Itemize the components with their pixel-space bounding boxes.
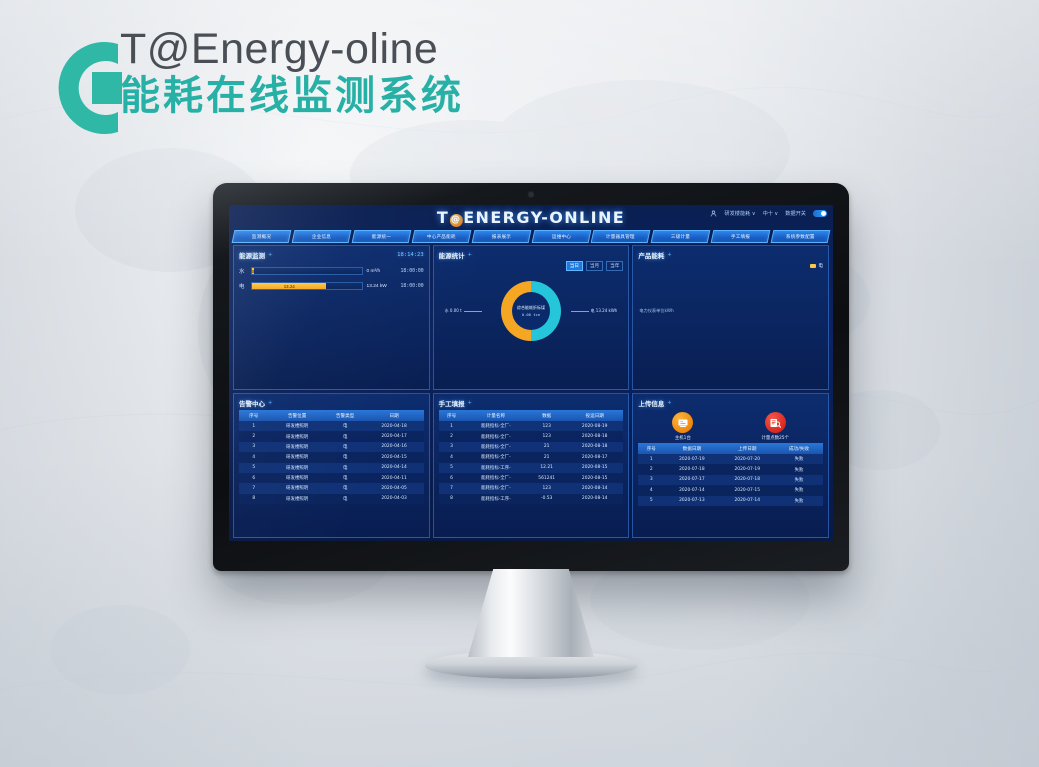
app-topbar: T@ENERGY-ONLINE 研发楼能耗 ∨ 中十 ∨ 数据开关 <box>229 205 833 229</box>
table-cell: 3 <box>439 442 465 452</box>
table-cell: 2020-07-20 <box>720 454 775 464</box>
energy-row-water-barvalue: 0 <box>252 269 254 274</box>
table-cell: 4 <box>638 485 664 495</box>
table-cell: 研发楼照明 <box>269 463 326 473</box>
table-cell: 研发楼照明 <box>269 452 326 462</box>
energy-row-electric: 电 13.24 13.24 kW 18:00:00 <box>239 282 424 290</box>
col-index: 序号 <box>239 410 269 421</box>
monitor-bezel: T@ENERGY-ONLINE 研发楼能耗 ∨ 中十 ∨ 数据开关 监测概况 企… <box>213 183 849 571</box>
donut-center-value: 0.00 tce <box>522 312 540 317</box>
table-cell: 研发楼照明 <box>269 473 326 483</box>
table-cell: 能耗指标-全厂- <box>465 442 528 452</box>
col-location: 告警位置 <box>269 410 326 421</box>
panel-alarm-center: 告警中心 + 序号 告警位置 告警类型 日期 1研发楼照明电2020-04-18… <box>233 393 430 538</box>
app-logo-prefix: T <box>437 208 449 227</box>
table-cell: 123 <box>527 483 566 493</box>
dashboard-grid: 能源监测 + 18:14:23 水 0 0 m³/h 18:00:00 <box>233 245 829 538</box>
table-cell: 21 <box>527 452 566 462</box>
table-cell: 2020-07-14 <box>664 485 719 495</box>
panel-product-energy-title: 产品能耗 <box>638 250 664 260</box>
manual-entry-body: 1能耗指标-全厂-1232020-08-192能耗指标-全厂-1232020-0… <box>439 421 624 504</box>
nav-label-0: 监测概况 <box>252 234 271 240</box>
data-toggle-label: 数据开关 <box>785 210 806 217</box>
table-cell: 电 <box>326 473 365 483</box>
table-cell: 1 <box>638 454 664 464</box>
table-cell: 8 <box>439 494 465 504</box>
upload-stat-host-caption: 主机1台 <box>672 435 693 441</box>
legend-label-electric: 电 <box>818 263 823 269</box>
table-cell: 2020-04-03 <box>365 494 424 504</box>
table-cell: -0.53 <box>527 494 566 504</box>
table-cell: 7 <box>439 483 465 493</box>
panel-energy-statistics-header: 能源统计 + <box>439 249 624 260</box>
table-cell: 3 <box>239 442 269 452</box>
expand-icon[interactable]: + <box>468 400 472 406</box>
table-cell: 6 <box>439 473 465 483</box>
alarm-center-body: 1研发楼照明电2020-04-182研发楼照明电2020-04-173研发楼照明… <box>239 421 424 504</box>
user-account-name[interactable]: 研发楼能耗 ∨ <box>724 210 755 217</box>
c-logo-icon <box>52 28 124 148</box>
panel-energy-monitor-header: 能源监测 + 18:14:23 <box>239 249 424 260</box>
app-logo: T@ENERGY-ONLINE <box>437 208 625 227</box>
product-energy-legend: 电 <box>638 263 823 269</box>
nav-item-4[interactable]: 报表展示 <box>471 230 531 243</box>
donut-label-electric: 电 13.24 kWh <box>571 308 618 314</box>
expand-icon[interactable]: + <box>268 252 272 258</box>
table-cell: 2020-07-18 <box>664 464 719 474</box>
expand-icon[interactable]: + <box>667 400 671 406</box>
table-row[interactable]: 22020-07-182020-07-19失败 <box>638 464 823 474</box>
panel-upload-info: 上传信息 + 主机1台 <box>632 393 829 538</box>
tab-month[interactable]: 当月 <box>586 261 603 271</box>
upload-stats: 主机1台 计量点数25个 <box>638 412 823 441</box>
table-cell: 电 <box>326 442 365 452</box>
panel-upload-info-title: 上传信息 <box>638 398 664 408</box>
panel-manual-entry: 手工填报 + 序号 计量名称 数据 投运日期 1能耗指标-全厂-1232020-… <box>433 393 630 538</box>
energy-row-electric-reading: 13.24 kW <box>367 284 397 289</box>
table-cell: 2020-07-15 <box>720 485 775 495</box>
nav-item-9[interactable]: 系统参数配置 <box>771 230 831 243</box>
energy-row-water-bar: 0 <box>251 267 363 275</box>
monitor-mockup: T@ENERGY-ONLINE 研发楼能耗 ∨ 中十 ∨ 数据开关 监测概况 企… <box>213 183 849 679</box>
table-cell: 2020-08-19 <box>566 421 623 431</box>
panel-energy-monitor-title: 能源监测 <box>239 250 265 260</box>
table-row[interactable]: 6能耗指标-全厂-5612412020-08-15 <box>439 473 624 483</box>
table-cell: 8 <box>239 494 269 504</box>
table-cell: 研发楼照明 <box>269 421 326 431</box>
donut-center: 综合能耗折标煤 0.00 tce <box>512 292 550 330</box>
table-row[interactable]: 7研发楼照明电2020-04-05 <box>239 483 424 493</box>
upload-stat-host: 主机1台 <box>672 412 693 441</box>
table-cell: 2 <box>638 464 664 474</box>
alarm-center-table: 序号 告警位置 告警类型 日期 1研发楼照明电2020-04-182研发楼照明电… <box>239 410 424 504</box>
table-cell: 2020-08-15 <box>566 463 623 473</box>
table-cell: 电 <box>326 463 365 473</box>
nav-item-0[interactable]: 监测概况 <box>232 230 292 243</box>
table-cell: 2020-07-13 <box>664 496 719 506</box>
user-icon <box>710 210 717 217</box>
col-meter-name: 计量名称 <box>465 410 528 421</box>
table-cell: 2020-07-18 <box>720 475 775 485</box>
table-cell: 能耗指标-全厂- <box>465 421 528 431</box>
table-cell: 5 <box>439 463 465 473</box>
nav-label-4: 报表展示 <box>491 234 510 240</box>
energy-row-water-fill: 0 <box>252 268 254 274</box>
table-cell: 电 <box>326 452 365 462</box>
panel-upload-info-header: 上传信息 + <box>638 397 823 408</box>
table-cell: 电 <box>326 494 365 504</box>
nav-label-5: 运维中心 <box>551 234 570 240</box>
app-logo-suffix: ENERGY-ONLINE <box>463 208 625 227</box>
col-date: 投运日期 <box>566 410 623 421</box>
table-cell: 123 <box>527 431 566 441</box>
panel-manual-entry-title: 手工填报 <box>439 398 465 408</box>
upload-info-body: 12020-07-192020-07-20失败22020-07-182020-0… <box>638 454 823 506</box>
table-cell: 2020-04-16 <box>365 442 424 452</box>
table-row[interactable]: 5研发楼照明电2020-04-14 <box>239 463 424 473</box>
energy-row-water-time: 18:00:00 <box>401 269 424 274</box>
brand-title-cn: 能耗在线监测系统 <box>120 73 464 119</box>
table-cell: 5 <box>638 496 664 506</box>
upload-stat-meters: 计量点数25个 <box>761 412 789 441</box>
table-row[interactable]: 1能耗指标-全厂-1232020-08-19 <box>439 421 624 431</box>
energy-row-water: 水 0 0 m³/h 18:00:00 <box>239 267 424 275</box>
table-cell: 561241 <box>527 473 566 483</box>
tab-year[interactable]: 当年 <box>606 261 623 271</box>
table-row[interactable]: 4研发楼照明电2020-04-15 <box>239 452 424 462</box>
table-header-row: 序号 数据日期 上传日期 成功/失败 <box>638 443 823 454</box>
nav-label-1: 企业信息 <box>312 234 331 240</box>
nav-label-6: 计量器具管理 <box>607 234 636 240</box>
nav-label-3: 中心产品能耗 <box>427 234 456 240</box>
table-cell: 能耗指标-全厂- <box>465 483 528 493</box>
col-index: 序号 <box>638 443 664 454</box>
table-cell: 2020-08-18 <box>566 442 623 452</box>
col-data-date: 数据日期 <box>664 443 719 454</box>
table-cell: 12.21 <box>527 463 566 473</box>
col-status: 成功/失败 <box>775 443 823 454</box>
table-cell: 21 <box>527 442 566 452</box>
panel-alarm-center-title: 告警中心 <box>239 398 265 408</box>
table-cell: 研发楼照明 <box>269 442 326 452</box>
col-type: 告警类型 <box>326 410 365 421</box>
energy-row-water-reading: 0 m³/h <box>367 269 397 274</box>
manual-entry-table: 序号 计量名称 数据 投运日期 1能耗指标-全厂-1232020-08-192能… <box>439 410 624 504</box>
table-cell: 4 <box>439 452 465 462</box>
table-cell: 2020-07-17 <box>664 475 719 485</box>
upload-info-table: 序号 数据日期 上传日期 成功/失败 12020-07-192020-07-20… <box>638 443 823 506</box>
nav-label-9: 系统参数配置 <box>786 234 815 240</box>
nav-item-3[interactable]: 中心产品能耗 <box>411 230 471 243</box>
nav-label-7: 三级计量 <box>671 234 690 240</box>
monitor-neck <box>468 569 594 657</box>
table-cell: 研发楼照明 <box>269 431 326 441</box>
table-cell: 5 <box>239 463 269 473</box>
tab-today[interactable]: 当日 <box>566 261 583 271</box>
table-cell: 失败 <box>775 454 823 464</box>
nav-item-5[interactable]: 运维中心 <box>531 230 591 243</box>
table-row[interactable]: 52020-07-132020-07-14失败 <box>638 496 823 506</box>
meter-search-icon <box>765 412 786 433</box>
table-cell: 6 <box>239 473 269 483</box>
nav-item-2[interactable]: 能源统一 <box>351 230 411 243</box>
table-row[interactable]: 3能耗指标-全厂-212020-08-18 <box>439 442 624 452</box>
table-cell: 4 <box>239 452 269 462</box>
energy-donut-chart: 水 0.00 t 电 13.24 kWh 综合能耗折标煤 0.00 tce <box>439 273 624 349</box>
table-cell: 能耗指标-全厂- <box>465 473 528 483</box>
table-cell: 失败 <box>775 464 823 474</box>
energy-row-water-label: 水 <box>239 267 247 275</box>
table-row[interactable]: 1研发楼照明电2020-04-18 <box>239 421 424 431</box>
nav-label-8: 手工填报 <box>731 234 750 240</box>
donut-center-label: 综合能耗折标煤 <box>517 305 545 311</box>
table-row[interactable]: 3研发楼照明电2020-04-16 <box>239 442 424 452</box>
panel-energy-monitor: 能源监测 + 18:14:23 水 0 0 m³/h 18:00:00 <box>233 245 430 390</box>
nav-item-6[interactable]: 计量器具管理 <box>591 230 651 243</box>
energy-row-electric-fill: 13.24 <box>252 283 326 289</box>
main-nav: 监测概况 企业信息 能源统一 中心产品能耗 报表展示 运维中心 计量器具管理 三… <box>233 230 829 243</box>
table-cell: 3 <box>638 475 664 485</box>
table-cell: 2020-08-14 <box>566 494 623 504</box>
table-cell: 2020-04-11 <box>365 473 424 483</box>
webcam-icon <box>529 192 534 197</box>
table-cell: 1 <box>439 421 465 431</box>
table-row[interactable]: 2研发楼照明电2020-04-17 <box>239 431 424 441</box>
table-cell: 能耗指标-工序- <box>465 494 528 504</box>
energy-row-electric-label: 电 <box>239 282 247 290</box>
table-cell: 2020-08-18 <box>566 431 623 441</box>
table-cell: 1 <box>239 421 269 431</box>
product-energy-note: 电力仪表单位kWh <box>639 308 673 314</box>
table-cell: 能耗指标-全厂- <box>465 431 528 441</box>
panel-product-energy-header: 产品能耗 + <box>638 249 823 260</box>
table-cell: 2020-04-17 <box>365 431 424 441</box>
table-cell: 2020-04-05 <box>365 483 424 493</box>
table-cell: 123 <box>527 421 566 431</box>
table-header-row: 序号 告警位置 告警类型 日期 <box>239 410 424 421</box>
table-cell: 研发楼照明 <box>269 483 326 493</box>
panel-product-energy: 产品能耗 + 电 电力仪表单位kWh <box>632 245 829 390</box>
table-row[interactable]: 42020-07-142020-07-15失败 <box>638 485 823 495</box>
panel-energy-statistics: 能源统计 + 当日 当月 当年 水 0.00 t 电 13.24 kWh <box>433 245 630 390</box>
table-cell: 能耗指标-全厂- <box>465 452 528 462</box>
user-area: 研发楼能耗 ∨ 中十 ∨ 数据开关 <box>710 210 827 217</box>
col-index: 序号 <box>439 410 465 421</box>
table-cell: 电 <box>326 431 365 441</box>
table-cell: 2 <box>239 431 269 441</box>
table-cell: 2020-08-14 <box>566 483 623 493</box>
nav-item-8[interactable]: 手工填报 <box>711 230 771 243</box>
table-cell: 2020-04-15 <box>365 452 424 462</box>
nav-item-7[interactable]: 三级计量 <box>651 230 711 243</box>
table-row[interactable]: 8能耗指标-工序--0.532020-08-14 <box>439 494 624 504</box>
table-cell: 电 <box>326 421 365 431</box>
energy-monitor-clock: 18:14:23 <box>397 252 424 258</box>
table-cell: 2020-07-14 <box>720 496 775 506</box>
table-row[interactable]: 12020-07-192020-07-20失败 <box>638 454 823 464</box>
brand-header: T@Energy-oline 能耗在线监测系统 <box>52 24 464 119</box>
legend-swatch-electric <box>810 264 816 268</box>
table-cell: 能耗指标-工序- <box>465 463 528 473</box>
table-cell: 7 <box>239 483 269 493</box>
table-row[interactable]: 4能耗指标-全厂-212020-08-17 <box>439 452 624 462</box>
monitor-screen: T@ENERGY-ONLINE 研发楼能耗 ∨ 中十 ∨ 数据开关 监测概况 企… <box>229 205 833 541</box>
table-row[interactable]: 6研发楼照明电2020-04-11 <box>239 473 424 483</box>
table-cell: 2020-08-17 <box>566 452 623 462</box>
donut-label-electric-text: 电 13.24 kWh <box>591 308 618 314</box>
col-upload-date: 上传日期 <box>720 443 775 454</box>
expand-icon[interactable]: + <box>468 252 472 258</box>
app-logo-at-icon: @ <box>450 214 463 227</box>
expand-icon[interactable]: + <box>268 400 272 406</box>
panel-alarm-center-header: 告警中心 + <box>239 397 424 408</box>
donut-label-water: 水 0.00 t <box>445 308 482 314</box>
table-cell: 失败 <box>775 485 823 495</box>
col-value: 数据 <box>527 410 566 421</box>
table-cell: 2020-04-18 <box>365 421 424 431</box>
expand-icon[interactable]: + <box>667 252 671 258</box>
energy-row-electric-bar: 13.24 <box>251 282 363 290</box>
donut-label-water-text: 水 0.00 t <box>445 308 462 314</box>
col-date: 日期 <box>365 410 424 421</box>
dashboard-app: T@ENERGY-ONLINE 研发楼能耗 ∨ 中十 ∨ 数据开关 监测概况 企… <box>229 205 833 541</box>
upload-stat-meters-caption: 计量点数25个 <box>761 435 789 441</box>
table-cell: 2 <box>439 431 465 441</box>
table-row[interactable]: 8研发楼照明电2020-04-03 <box>239 494 424 504</box>
panel-energy-statistics-title: 能源统计 <box>439 250 465 260</box>
brand-title-en: T@Energy-oline <box>120 24 464 75</box>
table-row[interactable]: 7能耗指标-全厂-1232020-08-14 <box>439 483 624 493</box>
table-cell: 研发楼照明 <box>269 494 326 504</box>
table-cell: 2020-08-15 <box>566 473 623 483</box>
data-toggle-switch[interactable] <box>813 210 827 217</box>
table-row[interactable]: 2能耗指标-全厂-1232020-08-18 <box>439 431 624 441</box>
table-cell: 2020-07-19 <box>720 464 775 474</box>
table-cell: 失败 <box>775 496 823 506</box>
table-cell: 失败 <box>775 475 823 485</box>
server-host-icon <box>672 412 693 433</box>
nav-item-1[interactable]: 企业信息 <box>292 230 352 243</box>
energy-row-electric-barvalue: 13.24 <box>284 284 295 289</box>
table-row[interactable]: 32020-07-172020-07-18失败 <box>638 475 823 485</box>
panel-manual-entry-header: 手工填报 + <box>439 397 624 408</box>
table-row[interactable]: 5能耗指标-工序-12.212020-08-15 <box>439 463 624 473</box>
energy-row-electric-time: 18:00:00 <box>401 284 424 289</box>
nav-label-2: 能源统一 <box>372 234 391 240</box>
energy-stats-tabs: 当日 当月 当年 <box>439 261 624 271</box>
table-header-row: 序号 计量名称 数据 投运日期 <box>439 410 624 421</box>
user-secondary[interactable]: 中十 ∨ <box>763 210 779 217</box>
table-cell: 电 <box>326 483 365 493</box>
table-cell: 2020-07-19 <box>664 454 719 464</box>
table-cell: 2020-04-14 <box>365 463 424 473</box>
